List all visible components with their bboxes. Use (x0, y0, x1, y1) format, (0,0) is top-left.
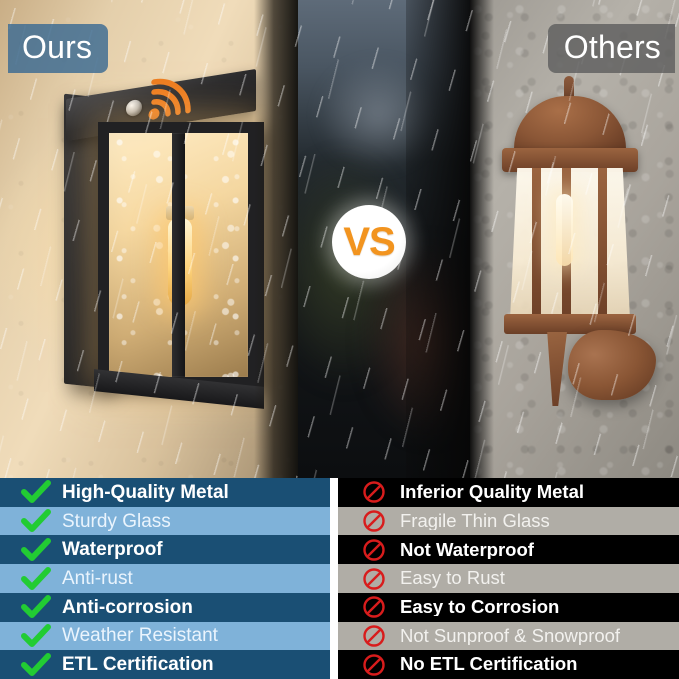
feature-label: Easy to Rust (400, 569, 505, 588)
prohibition-icon (348, 595, 400, 619)
feature-row: Fragile Thin Glass (338, 507, 679, 536)
feature-label: ETL Certification (62, 655, 214, 674)
others-label-badge: Others (548, 24, 675, 73)
feature-label: Fragile Thin Glass (400, 512, 550, 531)
feature-row: Sturdy Glass (0, 507, 330, 536)
ours-feature-list: High-Quality MetalSturdy GlassWaterproof… (0, 478, 330, 679)
feature-label: Inferior Quality Metal (400, 483, 584, 502)
check-icon (10, 538, 62, 562)
modern-wall-lantern (52, 78, 268, 418)
feature-label: Not Waterproof (400, 541, 534, 560)
prohibition-icon (348, 480, 400, 504)
feature-row: Easy to Corrosion (338, 593, 679, 622)
product-comparison-photo: Ours Others VS (0, 0, 679, 478)
right-scene-shadow-edge (470, 0, 494, 478)
lantern-mullion-left (532, 168, 541, 320)
feature-row: Easy to Rust (338, 564, 679, 593)
feature-label: Anti-rust (62, 569, 133, 588)
ours-label-badge: Ours (8, 24, 108, 73)
prohibition-icon (348, 509, 400, 533)
feature-row: Inferior Quality Metal (338, 478, 679, 507)
feature-label: Anti-corrosion (62, 598, 193, 617)
feature-row: ETL Certification (0, 650, 330, 679)
feature-row: Weather Resistant (0, 622, 330, 651)
others-feature-list: Inferior Quality MetalFragile Thin Glass… (338, 478, 679, 679)
check-icon (10, 480, 62, 504)
prohibition-icon (348, 567, 400, 591)
left-scene-shadow-edge (254, 0, 298, 478)
prohibition-icon (348, 653, 400, 677)
feature-label: Easy to Corrosion (400, 598, 559, 617)
vs-badge: VS (332, 205, 406, 279)
feature-row: No ETL Certification (338, 650, 679, 679)
wifi-waves-icon (144, 68, 202, 123)
feature-label: No ETL Certification (400, 655, 577, 674)
lantern-mullion-right (598, 168, 607, 320)
check-icon (10, 595, 62, 619)
lantern-body (98, 122, 264, 388)
feature-label: Sturdy Glass (62, 512, 171, 531)
feature-row: Not Sunproof & Snowproof (338, 622, 679, 651)
check-icon (10, 653, 62, 677)
vs-text: VS (343, 222, 394, 262)
feature-row: Anti-rust (0, 564, 330, 593)
lantern-wall-arm (568, 330, 656, 400)
feature-row: Anti-corrosion (0, 593, 330, 622)
feature-row: Not Waterproof (338, 535, 679, 564)
lantern-frame (98, 122, 264, 388)
rusty-wall-lantern (494, 76, 654, 406)
check-icon (10, 567, 62, 591)
prohibition-icon (348, 538, 400, 562)
feature-label: High-Quality Metal (62, 483, 229, 502)
check-icon (10, 624, 62, 648)
feature-label: Weather Resistant (62, 626, 218, 645)
prohibition-icon (348, 624, 400, 648)
feature-label: Waterproof (62, 540, 163, 559)
dark-gradient (406, 0, 470, 478)
feature-label: Not Sunproof & Snowproof (400, 627, 620, 646)
comparison-infographic: Ours Others VS High-Quality MetalSturdy … (0, 0, 679, 679)
feature-row: Waterproof (0, 535, 330, 564)
lantern-dome (514, 96, 626, 156)
column-divider (330, 478, 338, 679)
check-icon (10, 509, 62, 533)
light-bulb (556, 194, 573, 266)
feature-row: High-Quality Metal (0, 478, 330, 507)
comparison-table: High-Quality MetalSturdy GlassWaterproof… (0, 478, 679, 679)
